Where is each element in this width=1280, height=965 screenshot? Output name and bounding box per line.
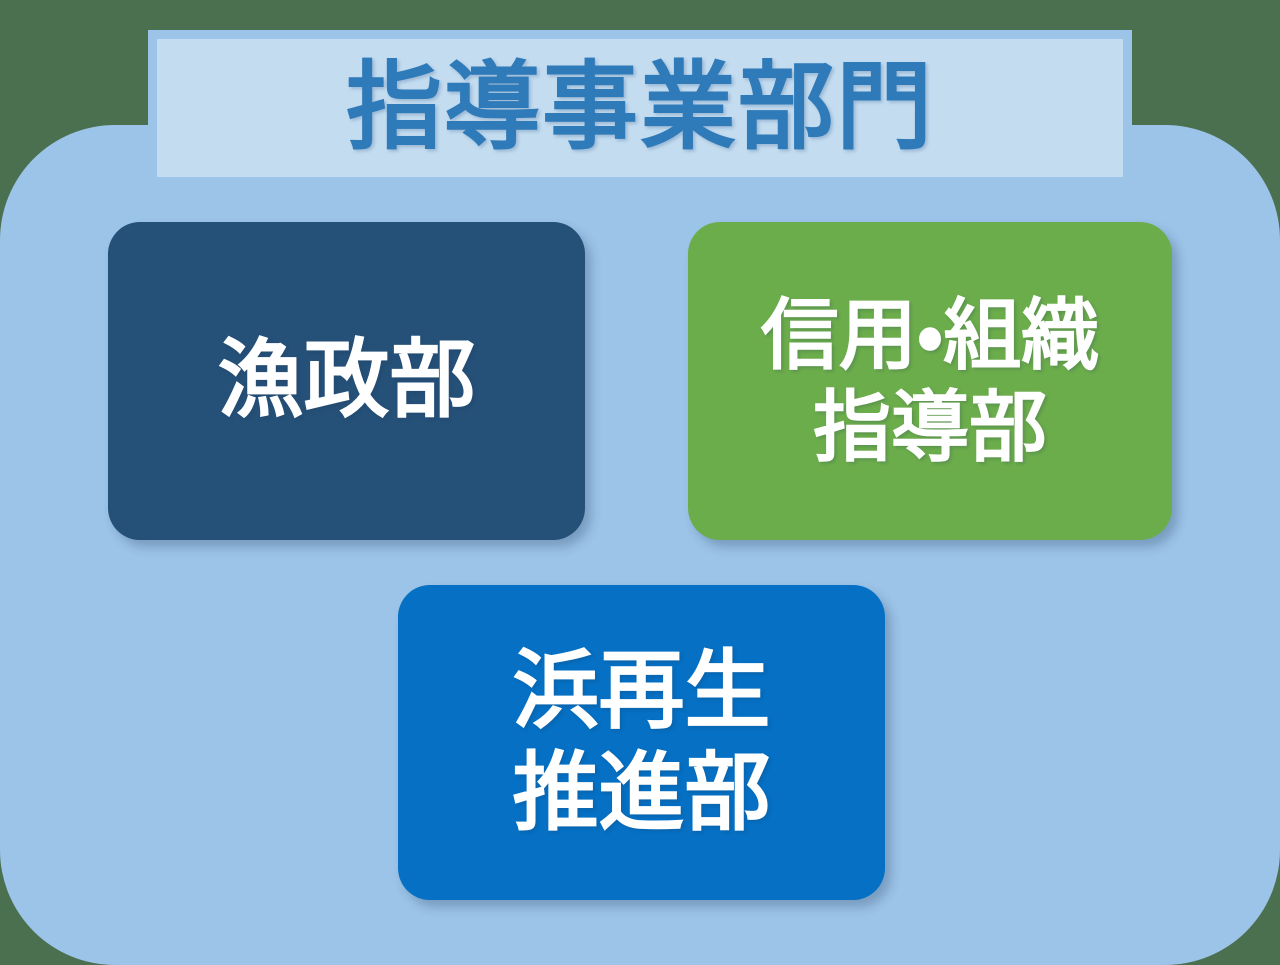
department-label-line: 浜再生 xyxy=(513,641,771,742)
department-label-line: 推進部 xyxy=(513,743,771,844)
department-label-shinyo-soshiki: 信用・組織 指導部 xyxy=(751,289,1110,473)
department-card-shinyo-soshiki[interactable]: 信用・組織 指導部 xyxy=(688,222,1172,540)
department-label-line: 漁政部 xyxy=(218,330,476,431)
department-card-hama-saisei[interactable]: 浜再生 推進部 xyxy=(398,585,885,900)
department-label-line: 指導部 xyxy=(761,381,1100,473)
department-label-gyosei: 漁政部 xyxy=(208,330,486,431)
department-division-banner: 指導事業部門 xyxy=(148,30,1132,186)
department-card-gyosei[interactable]: 漁政部 xyxy=(108,222,585,540)
department-label-line: 信用・組織 xyxy=(761,289,1100,381)
page-title: 指導事業部門 xyxy=(346,60,934,156)
department-label-hama-saisei: 浜再生 推進部 xyxy=(503,641,781,844)
